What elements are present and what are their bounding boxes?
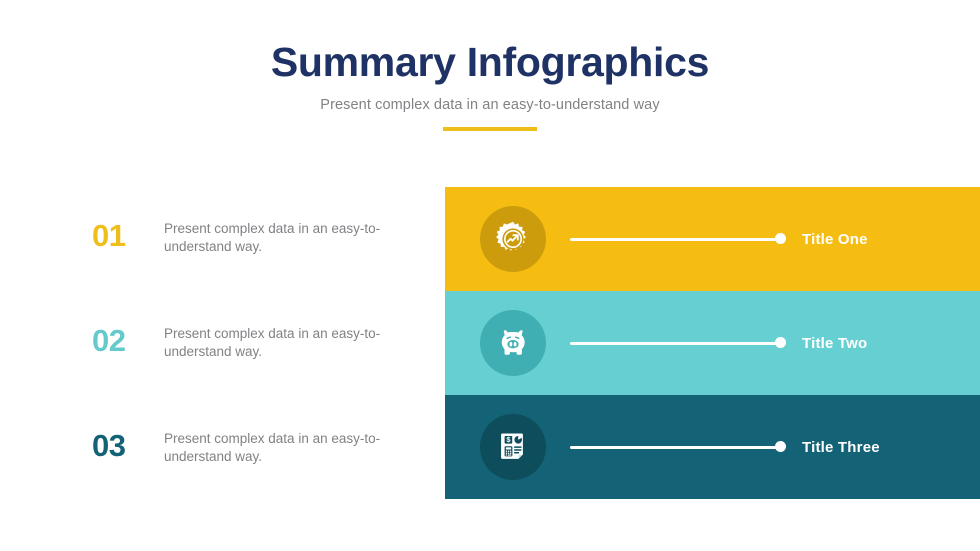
band-title: Title One (802, 231, 868, 248)
connector-stroke (570, 446, 782, 449)
financial-report-calculator-icon: $ (496, 430, 530, 464)
band-row-three[interactable]: $ (445, 395, 980, 499)
page-subtitle: Present complex data in an easy-to-under… (0, 97, 980, 113)
piggy-bank-icon (496, 326, 530, 360)
band-row-one[interactable]: Title One (445, 187, 980, 291)
connector-endpoint-dot (775, 233, 786, 244)
connector-line (570, 337, 786, 349)
title-underline-accent (443, 127, 537, 131)
band-row-two[interactable]: Title Two (445, 291, 980, 395)
color-band-group: Title One (445, 187, 980, 500)
connector-line (570, 233, 786, 245)
list-item-number: 03 (92, 410, 164, 461)
list-item-description: Present complex data in an easy-to-under… (164, 305, 400, 361)
list-item: 01 Present complex data in an easy-to-un… (92, 200, 422, 304)
list-item-description: Present complex data in an easy-to-under… (164, 410, 400, 466)
list-item: 03 Present complex data in an easy-to-un… (92, 410, 422, 514)
list-item-description: Present complex data in an easy-to-under… (164, 200, 400, 256)
connector-endpoint-dot (775, 441, 786, 452)
icon-circle (480, 310, 546, 376)
connector-line (570, 441, 786, 453)
icon-circle (480, 206, 546, 272)
svg-text:$: $ (506, 435, 510, 444)
slide-header: Summary Infographics Present complex dat… (0, 40, 980, 113)
infographic-slide: Summary Infographics Present complex dat… (0, 0, 980, 551)
gear-growth-arrow-icon (495, 221, 531, 257)
band-title: Title Two (802, 335, 867, 352)
numbered-description-list: 01 Present complex data in an easy-to-un… (0, 187, 445, 500)
connector-stroke (570, 342, 782, 345)
connector-endpoint-dot (775, 337, 786, 348)
page-title: Summary Infographics (0, 40, 980, 86)
list-item-number: 02 (92, 305, 164, 356)
list-item: 02 Present complex data in an easy-to-un… (92, 305, 422, 409)
band-title: Title Three (802, 439, 880, 456)
icon-circle: $ (480, 414, 546, 480)
connector-stroke (570, 238, 782, 241)
list-item-number: 01 (92, 200, 164, 251)
